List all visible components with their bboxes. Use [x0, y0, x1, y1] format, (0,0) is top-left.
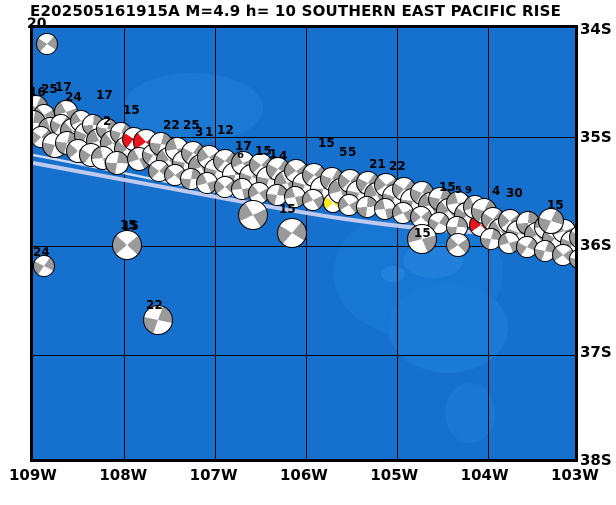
- y-axis-tick-label: 35S: [580, 128, 612, 146]
- focal-mechanism-beachball[interactable]: [446, 233, 470, 257]
- beachball-day-label: 1: [205, 126, 213, 138]
- beachball-day-label: 17: [96, 89, 113, 101]
- beachball-day-label: 15: [279, 203, 296, 215]
- x-axis-tick-label: 107W: [190, 466, 238, 484]
- y-axis-tick-label: 38S: [580, 451, 612, 469]
- x-axis-tick-label: 109W: [9, 466, 57, 484]
- beachball-day-label: 15: [439, 181, 456, 193]
- beachball-day-label: 1: [269, 148, 277, 160]
- beachball-day-label: 15: [122, 220, 139, 232]
- beachball-day-label: 2: [103, 115, 111, 127]
- beachball-day-label: 5: [455, 185, 462, 197]
- map-canvas: 1625172417215222531121761514155521221559…: [33, 28, 575, 459]
- x-axis-tick-label: 108W: [99, 466, 147, 484]
- beachball-day-label: 24: [33, 246, 50, 258]
- y-axis-tick-label: 36S: [580, 236, 612, 254]
- beachball-day-label: 15: [123, 104, 140, 116]
- beachball-day-label: 22: [146, 299, 163, 311]
- x-axis-tick-label: 105W: [370, 466, 418, 484]
- beachball-day-label: 3: [195, 126, 203, 138]
- beachball-day-label: 30: [506, 187, 523, 199]
- beachball-day-label: 4: [279, 150, 287, 162]
- beachball-day-label: 22: [163, 119, 180, 131]
- beachball-day-label: 12: [217, 124, 234, 136]
- focal-mechanism-beachball[interactable]: [112, 230, 142, 260]
- beachball-day-label: 15: [318, 137, 335, 149]
- focal-mechanism-beachball[interactable]: [105, 151, 129, 175]
- beachball-day-label: 21: [369, 158, 386, 170]
- beachball-day-label: 20: [27, 18, 46, 30]
- map-frame[interactable]: 1625172417215222531121761514155521221559…: [30, 25, 578, 462]
- x-axis-tick-label: 104W: [461, 466, 509, 484]
- beachball-day-label: 5: [348, 146, 356, 158]
- focal-mechanism-beachball[interactable]: [302, 189, 324, 211]
- map-figure: E202505161915A M=4.9 h= 10 SOUTHERN EAST…: [0, 0, 616, 505]
- y-axis-tick-label: 37S: [580, 343, 612, 361]
- figure-title: E202505161915A M=4.9 h= 10 SOUTHERN EAST…: [30, 1, 590, 23]
- beachball-day-label: 5: [339, 146, 347, 158]
- x-axis-tick-label: 106W: [280, 466, 328, 484]
- beachball-day-label: 15: [414, 227, 431, 239]
- focal-mechanism-beachball[interactable]: [277, 218, 307, 248]
- beachball-day-label: 15: [547, 199, 564, 211]
- focal-mechanism-beachball[interactable]: [238, 200, 268, 230]
- beachball-day-label: 6: [237, 150, 244, 162]
- beachball-day-label: 24: [65, 91, 82, 103]
- beachball-day-label: 4: [492, 185, 500, 197]
- beachball-day-label: 22: [389, 160, 406, 172]
- beachball-day-label: 9: [465, 185, 472, 197]
- y-axis-tick-label: 34S: [580, 20, 612, 38]
- focal-mechanism-beachball[interactable]: [36, 33, 58, 55]
